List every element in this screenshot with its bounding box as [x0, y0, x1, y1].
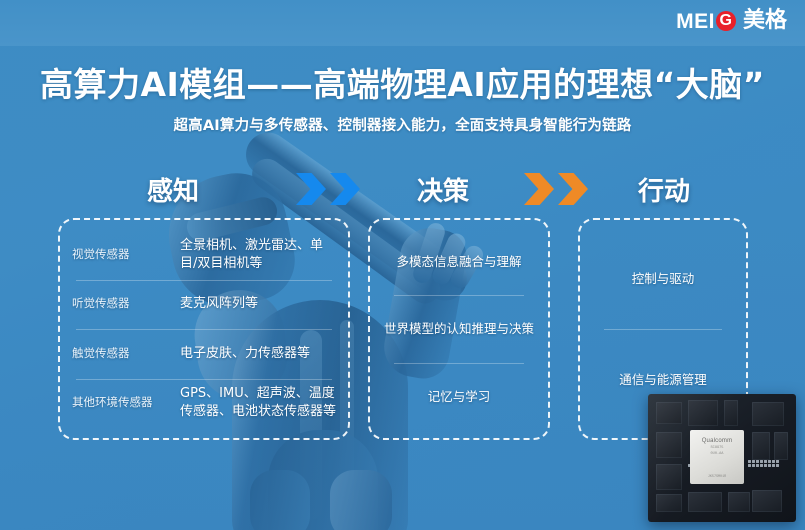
perception-row: 听觉传感器 麦克风阵列等 — [72, 280, 336, 330]
soc-brand-label: Qualcomm — [702, 438, 733, 444]
ai-module-board-photo: Qualcomm SC8975 0U0-AA JK57SM01R — [648, 394, 796, 522]
chevron-right-icon — [330, 173, 360, 205]
perception-row: 视觉传感器 全景相机、激光雷达、单目/双目相机等 — [72, 230, 336, 280]
stage-label-decision: 决策 — [368, 166, 518, 212]
perception-row-label: 其他环境传感器 — [72, 395, 180, 411]
action-row-value: 通信与能源管理 — [619, 371, 707, 389]
brand-logo-latin-text: MEI — [676, 11, 715, 32]
decision-row: 记忆与学习 — [380, 363, 538, 430]
stage-label-perception: 感知 — [58, 166, 288, 212]
stage-label-action: 行动 — [578, 166, 750, 212]
brand-logo: MEI G 美格 — [676, 10, 787, 32]
perception-row-label: 触觉传感器 — [72, 346, 180, 362]
perception-row-label: 视觉传感器 — [72, 247, 180, 263]
qualcomm-soc-chip: Qualcomm SC8975 0U0-AA JK57SM01R — [690, 430, 744, 484]
decision-row-value: 多模态信息融合与理解 — [396, 253, 521, 271]
chevron-right-icon — [296, 173, 326, 205]
perception-row-value: GPS、IMU、超声波、温度传感器、电池状态传感器等 — [180, 385, 336, 421]
stage-header-row: 感知 决策 行动 — [0, 166, 805, 212]
soc-model-label: SC8975 — [711, 446, 724, 450]
decision-row: 多模态信息融合与理解 — [380, 228, 538, 295]
perception-row-list: 视觉传感器 全景相机、激光雷达、单目/双目相机等 听觉传感器 麦克风阵列等 触觉… — [60, 220, 348, 438]
perception-row-value: 电子皮肤、力传感器等 — [180, 345, 336, 363]
action-row-value: 控制与驱动 — [632, 270, 695, 288]
brand-logo-chinese: 美格 — [743, 10, 787, 32]
soc-code-label: 0U0-AA — [711, 452, 724, 456]
decision-row-value: 记忆与学习 — [428, 388, 491, 406]
page-title: 高算力AI模组——高端物理AI应用的理想“大脑” — [0, 66, 805, 104]
panel-decision: 多模态信息融合与理解 世界模型的认知推理与决策 记忆与学习 — [368, 218, 550, 440]
soc-id-label: JK57SM01R — [708, 475, 726, 479]
perception-row-value: 麦克风阵列等 — [180, 295, 336, 313]
perception-row-value: 全景相机、激光雷达、单目/双目相机等 — [180, 237, 336, 273]
headline-block: 高算力AI模组——高端物理AI应用的理想“大脑” 超高AI算力与多传感器、控制器… — [0, 66, 805, 135]
decision-row-value: 世界模型的认知推理与决策 — [384, 320, 534, 338]
poster-canvas: MEI G 美格 高算力AI模组——高端物理AI应用的理想“大脑” 超高AI算力… — [0, 0, 805, 530]
brand-logo-latin: MEI G — [676, 11, 736, 32]
decision-row: 世界模型的认知推理与决策 — [380, 295, 538, 362]
brand-logo-g-circle-icon: G — [716, 11, 736, 31]
perception-row-label: 听觉传感器 — [72, 296, 180, 312]
action-row: 控制与驱动 — [590, 228, 736, 329]
perception-row: 触觉传感器 电子皮肤、力传感器等 — [72, 329, 336, 379]
panel-perception: 视觉传感器 全景相机、激光雷达、单目/双目相机等 听觉传感器 麦克风阵列等 触觉… — [58, 218, 350, 440]
perception-row: 其他环境传感器 GPS、IMU、超声波、温度传感器、电池状态传感器等 — [72, 379, 336, 429]
decision-row-list: 多模态信息融合与理解 世界模型的认知推理与决策 记忆与学习 — [370, 220, 548, 438]
chevron-right-icon — [524, 173, 554, 205]
page-subtitle: 超高AI算力与多传感器、控制器接入能力，全面支持具身智能行为链路 — [0, 114, 805, 135]
chevron-group-perception-to-decision — [296, 173, 360, 205]
